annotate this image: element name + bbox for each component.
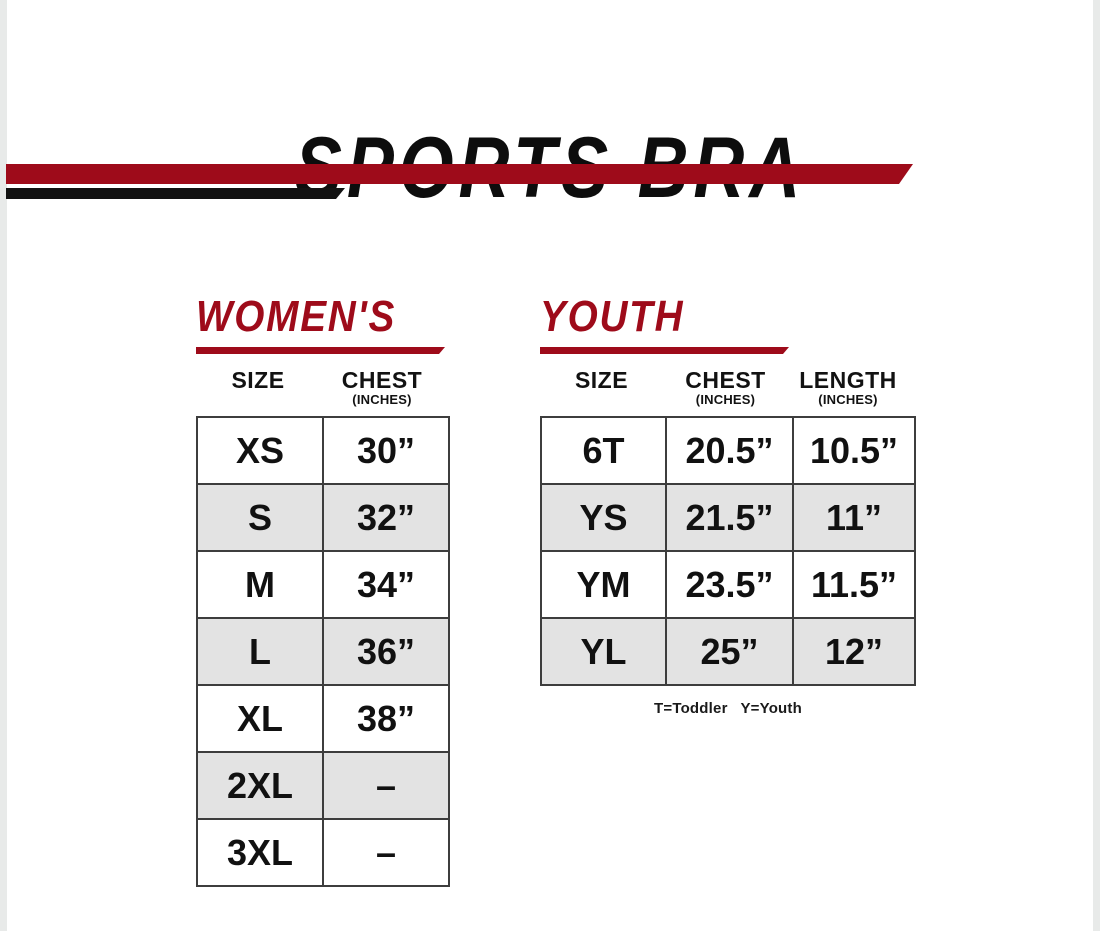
cell-length: 11.5” — [793, 551, 915, 618]
cell-size: L — [197, 618, 323, 685]
cell-size: S — [197, 484, 323, 551]
womens-column-headers: SIZE CHEST (INCHES) — [196, 369, 450, 408]
cell-size: YM — [541, 551, 666, 618]
page-edge-right — [1093, 0, 1100, 931]
cell-chest: 36” — [323, 618, 449, 685]
cell-size: XS — [197, 417, 323, 484]
size-chart-page: SPORTS BRA WOMEN'S SIZE CHEST (INCHES) X… — [0, 0, 1100, 931]
table-row: YL 25” 12” — [541, 618, 915, 685]
womens-section: WOMEN'S SIZE CHEST (INCHES) XS 30” S 32” — [196, 292, 450, 887]
womens-header-size-label: SIZE — [196, 369, 320, 392]
cell-size: XL — [197, 685, 323, 752]
youth-header-length-label: LENGTH — [788, 369, 908, 392]
womens-size-table: XS 30” S 32” M 34” L 36” XL 38” — [196, 416, 450, 887]
cell-size: 2XL — [197, 752, 323, 819]
table-row: YM 23.5” 11.5” — [541, 551, 915, 618]
cell-chest: 32” — [323, 484, 449, 551]
youth-header-size-label: SIZE — [540, 369, 663, 392]
youth-header-chest-label: CHEST — [663, 369, 788, 392]
womens-header-chest: CHEST (INCHES) — [320, 369, 444, 408]
table-row: 3XL – — [197, 819, 449, 886]
youth-header-length-unit: (INCHES) — [788, 393, 908, 406]
table-row: 6T 20.5” 10.5” — [541, 417, 915, 484]
title-rule-black — [6, 188, 345, 199]
youth-footnote: T=Toddler Y=Youth — [540, 700, 916, 717]
table-row: L 36” — [197, 618, 449, 685]
table-row: 2XL – — [197, 752, 449, 819]
youth-header-size-unit — [540, 393, 663, 408]
womens-header-chest-label: CHEST — [320, 369, 444, 392]
youth-heading-underline — [540, 347, 789, 354]
cell-chest: 20.5” — [666, 417, 793, 484]
table-row: M 34” — [197, 551, 449, 618]
cell-size: 3XL — [197, 819, 323, 886]
cell-chest: – — [323, 752, 449, 819]
cell-size: 6T — [541, 417, 666, 484]
cell-length: 11” — [793, 484, 915, 551]
cell-chest: – — [323, 819, 449, 886]
youth-heading: YOUTH — [540, 292, 871, 342]
youth-column-headers: SIZE CHEST (INCHES) LENGTH (INCHES) — [540, 369, 916, 408]
youth-header-chest-unit: (INCHES) — [663, 393, 788, 406]
youth-header-length: LENGTH (INCHES) — [788, 369, 908, 408]
page-edge-left — [0, 0, 7, 931]
womens-header-size-unit — [196, 393, 320, 408]
table-row: XS 30” — [197, 417, 449, 484]
womens-header-chest-unit: (INCHES) — [320, 393, 444, 406]
youth-header-chest: CHEST (INCHES) — [663, 369, 788, 408]
womens-heading: WOMEN'S — [196, 292, 420, 342]
table-row: S 32” — [197, 484, 449, 551]
youth-section: YOUTH SIZE CHEST (INCHES) LENGTH (INCHES… — [540, 292, 916, 717]
cell-chest: 30” — [323, 417, 449, 484]
table-row: XL 38” — [197, 685, 449, 752]
title-rule-red — [6, 164, 913, 184]
cell-chest: 25” — [666, 618, 793, 685]
cell-length: 10.5” — [793, 417, 915, 484]
youth-header-size: SIZE — [540, 369, 663, 408]
womens-heading-underline — [196, 347, 445, 354]
table-row: YS 21.5” 11” — [541, 484, 915, 551]
cell-chest: 23.5” — [666, 551, 793, 618]
womens-header-size: SIZE — [196, 369, 320, 408]
cell-length: 12” — [793, 618, 915, 685]
cell-size: YL — [541, 618, 666, 685]
cell-chest: 34” — [323, 551, 449, 618]
cell-chest: 21.5” — [666, 484, 793, 551]
cell-chest: 38” — [323, 685, 449, 752]
cell-size: YS — [541, 484, 666, 551]
cell-size: M — [197, 551, 323, 618]
youth-size-table: 6T 20.5” 10.5” YS 21.5” 11” YM 23.5” 11.… — [540, 416, 916, 686]
